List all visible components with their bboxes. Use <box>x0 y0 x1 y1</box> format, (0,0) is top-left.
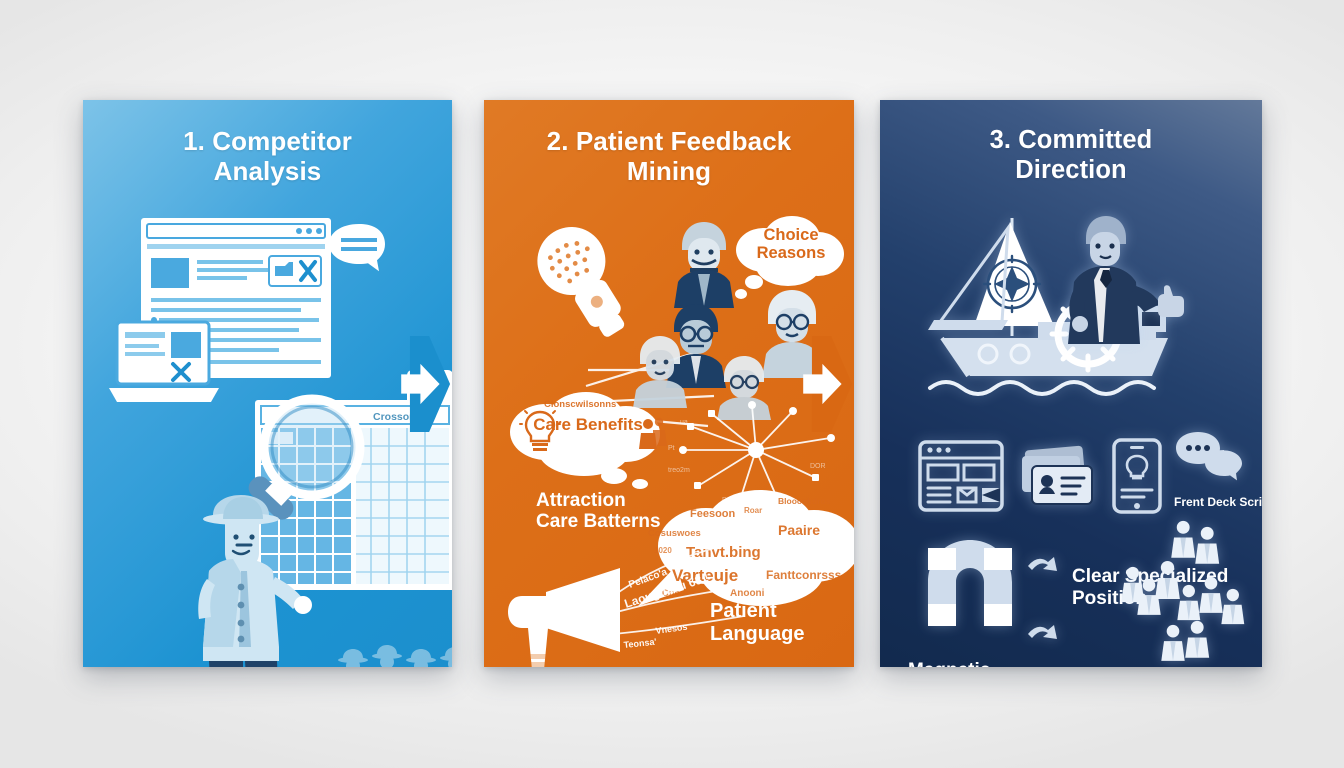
arrow-panel2-to-panel3 <box>809 336 854 432</box>
horseshoe-magnet-icon <box>912 530 1028 648</box>
care-benefits-text: Care Benefits <box>530 416 646 434</box>
chat-bubbles-icon <box>1174 430 1246 490</box>
people-pair-icon <box>640 415 666 451</box>
svg-text:treo2m: treo2m <box>668 467 690 474</box>
panel-1-background: 1. Competitor Analysis <box>83 100 452 667</box>
patient-language-label: Patient Language <box>710 600 804 646</box>
people-crowd-icon <box>1130 520 1256 667</box>
panel-3-title-line2: Direction <box>906 156 1236 186</box>
laptop-icon <box>109 320 219 408</box>
panel-3-title: 3. Committed Direction <box>880 126 1262 186</box>
svg-text:Vnesos: Vnesos <box>655 622 688 636</box>
svg-text:Teonsa': Teonsa' <box>623 637 657 650</box>
panel-2-title: 2. Patient Feedback Mining <box>484 126 854 187</box>
panel-patient-feedback-mining[interactable]: 2. Patient Feedback Mining <box>484 100 854 667</box>
magnetic-message-label: Magnetic Message <box>908 660 990 667</box>
detective-figure <box>179 475 319 667</box>
panel-competitor-analysis[interactable]: 1. Competitor Analysis <box>83 100 452 667</box>
panel-2-background: 2. Patient Feedback Mining <box>484 100 854 667</box>
panel-2-title-line2: Mining <box>510 156 828 186</box>
svg-text:Pt: Pt <box>668 445 675 452</box>
attraction-arrow-icon <box>1026 546 1068 656</box>
panel-3-background: 3. Committed Direction <box>880 100 1262 667</box>
business-card-stack-icon <box>1020 444 1096 512</box>
svg-text:DOR: DOR <box>810 463 826 470</box>
care-benefits-subtext: Clonscwilsonns <box>544 400 640 411</box>
chat-bubble-icon <box>327 222 391 278</box>
panel-committed-direction[interactable]: 3. Committed Direction <box>880 100 1262 667</box>
front-desk-scripts-label: Frent Deck Scripts <box>1174 496 1262 510</box>
businessman-thumbs-up-figure <box>1062 210 1182 350</box>
panel-3-title-line1: 3. Committed <box>906 126 1236 156</box>
infographic-canvas: 1. Competitor Analysis <box>0 0 1344 768</box>
panel-1-title-line2: Analysis <box>109 156 426 186</box>
panel-2-title-line1: 2. Patient Feedback <box>510 126 828 156</box>
panel-1-title-line1: 1. Competitor <box>109 126 426 156</box>
svg-text:ua: ua <box>680 419 688 426</box>
arrow-panel1-to-panel2 <box>407 336 452 432</box>
browser-window-icon <box>918 440 1004 512</box>
choice-reasons-text: Choice Reasons <box>730 226 852 263</box>
panel-1-title: 1. Competitor Analysis <box>83 126 452 187</box>
smartphone-lightbulb-icon <box>1112 438 1162 514</box>
detective-crowd <box>337 642 452 667</box>
